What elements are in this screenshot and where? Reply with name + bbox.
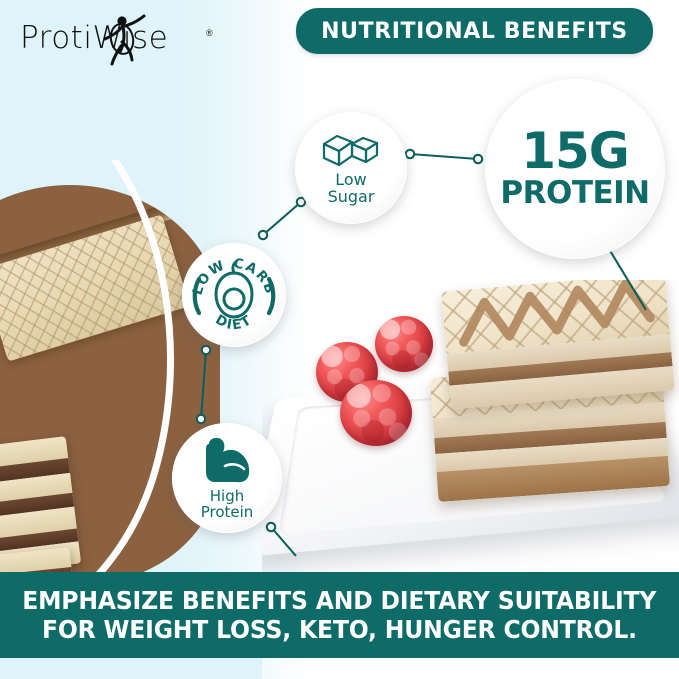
flexed-bicep-icon (198, 435, 256, 487)
registered-trademark: ® (206, 28, 213, 38)
nutritional-benefits-header: NUTRITIONAL BENEFITS (296, 8, 653, 54)
dancing-figure-icon (98, 12, 154, 66)
badge-high-protein-line2: Protein (201, 503, 254, 521)
badge-low-carb-arc-bottom: DIET (213, 312, 256, 334)
caramel-drizzle (441, 280, 674, 410)
wafer-bar-stack (430, 282, 670, 500)
footer-banner: EMPHASIZE BENEFITS AND DIETARY SUITABILI… (0, 572, 679, 658)
footer-line-2: FOR WEIGHT LOSS, KETO, HUNGER CONTROL. (42, 615, 637, 644)
brand-logo[interactable]: ProtiWise ® (20, 12, 230, 62)
badge-low-carb-diet[interactable]: LOW CARB DIET (182, 243, 286, 347)
badge-low-sugar-label: Low Sugar (328, 172, 375, 205)
infographic-root: ProtiWise ® NUTRITIONAL BENEFITS 15G PRO… (0, 0, 679, 679)
raspberry (340, 380, 412, 446)
badge-low-sugar-line2: Sugar (328, 187, 375, 206)
raspberry (375, 316, 433, 372)
wafer-bar-top (441, 280, 674, 410)
protein-amount-label: PROTEIN (500, 176, 649, 212)
right-product-photo (262, 280, 679, 572)
header-title: NUTRITIONAL BENEFITS (321, 19, 628, 44)
badge-high-protein-label: High Protein (201, 489, 254, 520)
protein-amount-value: 15G (521, 126, 629, 176)
footer-line-1: EMPHASIZE BENEFITS AND DIETARY SUITABILI… (22, 586, 656, 615)
badge-protein-amount[interactable]: 15G PROTEIN (485, 79, 665, 259)
badge-high-protein[interactable]: High Protein (172, 423, 282, 533)
badge-low-carb-arc-top: LOW CARB (190, 256, 279, 297)
sugar-cubes-icon (320, 131, 382, 169)
badge-low-sugar[interactable]: Low Sugar (295, 112, 407, 224)
low-carb-diet-seal: LOW CARB DIET (182, 243, 286, 347)
footer-cyan-strip (0, 658, 262, 679)
